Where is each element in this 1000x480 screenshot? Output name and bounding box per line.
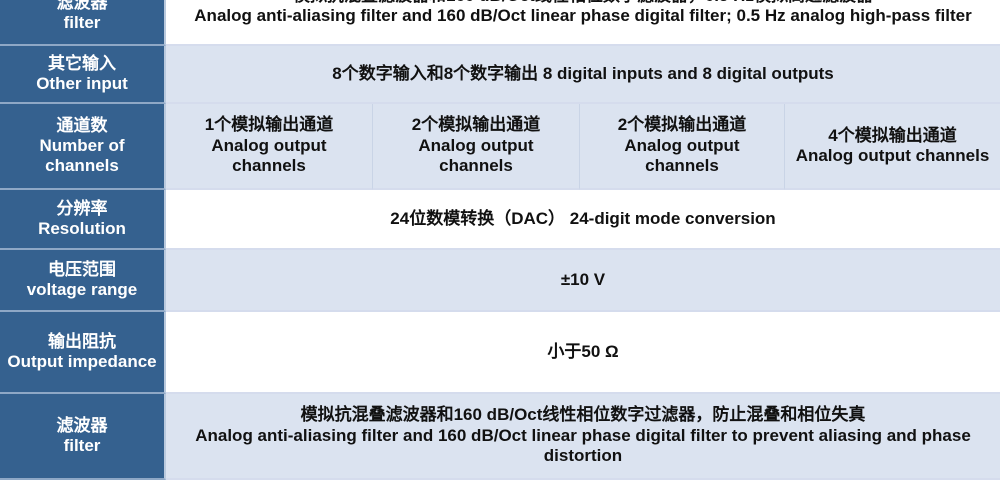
rowhead-voltage-range: 电压范围 voltage range (0, 250, 166, 312)
rowhead-label-en: Output impedance (6, 352, 158, 372)
rowhead-label-zh: 通道数 (6, 116, 158, 136)
cell-text-en: Analog anti-aliasing filter and 160 dB/O… (174, 426, 992, 467)
table-row-output-impedance: 输出阻抗 Output impedance 小于50 Ω (0, 312, 1000, 394)
rowhead-label-zh: 电压范围 (6, 260, 158, 280)
table-row-filter-top: 滤波器 filter 模拟抗混叠滤波器和160 dB/Oct线性相位数字滤波器，… (0, 0, 1000, 46)
rowhead-number-of-channels: 通道数 Number of channels (0, 104, 166, 190)
cell-text-en: 8个数字输入和8个数字输出 8 digital inputs and 8 dig… (174, 64, 992, 84)
rowhead-other-input: 其它输入 Other input (0, 46, 166, 104)
cell-text-en: 小于50 Ω (174, 342, 992, 362)
cell-channels-col3: 2个模拟输出通道 Analog output channels (580, 104, 785, 190)
cell-resolution-value: 24位数模转换（DAC） 24-digit mode conversion (166, 190, 1000, 250)
rowhead-label-zh: 其它输入 (6, 54, 158, 74)
specification-table: 滤波器 filter 模拟抗混叠滤波器和160 dB/Oct线性相位数字滤波器，… (0, 0, 1000, 480)
cell-text-en: Analog output channels (793, 146, 992, 166)
rowhead-label-zh: 分辨率 (6, 199, 158, 219)
cell-text-en: Analog output channels (588, 136, 776, 177)
table-row-resolution: 分辨率 Resolution 24位数模转换（DAC） 24-digit mod… (0, 190, 1000, 250)
cell-channels-col4: 4个模拟输出通道 Analog output channels (785, 104, 1000, 190)
table-row-number-of-channels: 通道数 Number of channels 1个模拟输出通道 Analog o… (0, 104, 1000, 190)
rowhead-label-zh: 输出阻抗 (6, 332, 158, 352)
rowhead-label-zh: 滤波器 (6, 0, 158, 13)
rowhead-label-en: Resolution (6, 219, 158, 239)
cell-text-zh: 2个模拟输出通道 (588, 115, 776, 135)
rowhead-label-en: Other input (6, 74, 158, 94)
rowhead-label-en: filter (6, 436, 158, 456)
cell-text-en: Analog output channels (174, 136, 364, 177)
rowhead-resolution: 分辨率 Resolution (0, 190, 166, 250)
table-row-other-input: 其它输入 Other input 8个数字输入和8个数字输出 8 digital… (0, 46, 1000, 104)
table-row-filter-bottom: 滤波器 filter 模拟抗混叠滤波器和160 dB/Oct线性相位数字过滤器，… (0, 394, 1000, 480)
rowhead-filter-top: 滤波器 filter (0, 0, 166, 46)
cell-text-en: Analog output channels (381, 136, 571, 177)
rowhead-label-en: Number of channels (6, 136, 158, 176)
table-row-voltage-range: 电压范围 voltage range ±10 V (0, 250, 1000, 312)
cell-other-input-value: 8个数字输入和8个数字输出 8 digital inputs and 8 dig… (166, 46, 1000, 104)
rowhead-filter-bottom: 滤波器 filter (0, 394, 166, 480)
rowhead-label-zh: 滤波器 (6, 416, 158, 436)
cell-text-en: 24位数模转换（DAC） 24-digit mode conversion (174, 209, 992, 229)
cell-text-zh: 模拟抗混叠滤波器和160 dB/Oct线性相位数字过滤器，防止混叠和相位失真 (174, 405, 992, 425)
rowhead-output-impedance: 输出阻抗 Output impedance (0, 312, 166, 394)
rowhead-label-en: voltage range (6, 280, 158, 300)
cell-text-en: Analog anti-aliasing filter and 160 dB/O… (174, 6, 992, 26)
cell-text-zh: 1个模拟输出通道 (174, 115, 364, 135)
cell-text-zh: 2个模拟输出通道 (381, 115, 571, 135)
cell-filter-top-value: 模拟抗混叠滤波器和160 dB/Oct线性相位数字滤波器，0.5 Hz模拟高通滤… (166, 0, 1000, 46)
cell-filter-bottom-value: 模拟抗混叠滤波器和160 dB/Oct线性相位数字过滤器，防止混叠和相位失真 A… (166, 394, 1000, 480)
cell-text-en: ±10 V (174, 270, 992, 290)
cell-voltage-range-value: ±10 V (166, 250, 1000, 312)
cell-channels-col2: 2个模拟输出通道 Analog output channels (373, 104, 580, 190)
cell-channels-col1: 1个模拟输出通道 Analog output channels (166, 104, 373, 190)
spec-table-body: 滤波器 filter 模拟抗混叠滤波器和160 dB/Oct线性相位数字滤波器，… (0, 0, 1000, 480)
cell-output-impedance-value: 小于50 Ω (166, 312, 1000, 394)
cell-text-zh: 4个模拟输出通道 (793, 126, 992, 146)
rowhead-label-en: filter (6, 13, 158, 33)
